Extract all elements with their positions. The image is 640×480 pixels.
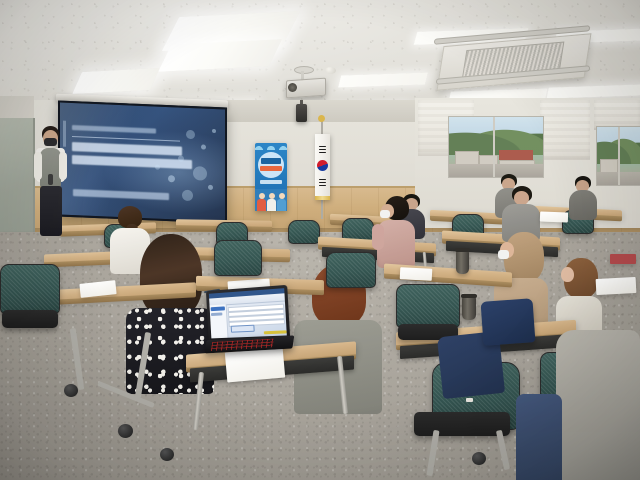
attendee-foreground-gray [556, 330, 640, 480]
presenter [30, 126, 70, 236]
attendee-jeans [516, 394, 562, 480]
tumbler [462, 296, 476, 320]
banner-mascot [277, 193, 286, 211]
backpack [481, 298, 536, 346]
laptop-lid [206, 285, 290, 344]
attendee-head [561, 267, 574, 282]
taegeuk-icon [317, 160, 328, 171]
chair-caster [118, 424, 133, 438]
banner-mascot-figures [255, 189, 287, 211]
presenter-mask [44, 138, 57, 146]
korean-flag [315, 134, 330, 200]
trigram-icon [319, 182, 326, 183]
chair-backrest[interactable] [288, 220, 320, 244]
presenter-arm [59, 152, 67, 180]
attendee-pink-blouse [372, 196, 422, 270]
attendee-torso [569, 190, 597, 220]
banner-scallop-decor [255, 143, 287, 150]
banner-subline [260, 166, 282, 171]
microphone-icon [48, 174, 53, 185]
trigram-icon [319, 149, 326, 150]
handout-paper [540, 212, 568, 223]
trigram-icon [319, 185, 326, 186]
attendee-head [514, 191, 529, 205]
banner-mascot [257, 193, 266, 211]
slide-bubble-decor [168, 175, 175, 182]
attendee-arm [372, 224, 384, 250]
led-panel-light [72, 68, 160, 94]
slide-content [60, 103, 225, 222]
chair-seat[interactable] [2, 310, 58, 328]
window-pane [448, 116, 544, 178]
slide-bubble-decor [208, 185, 213, 190]
slide-bubble-decor [186, 130, 195, 139]
standee-banner [255, 143, 287, 211]
attendee-far-back [566, 176, 600, 222]
tumbler [456, 250, 469, 274]
chair-backrest[interactable] [326, 252, 376, 288]
smoke-detector-icon [325, 67, 336, 74]
projector-lens-icon [288, 83, 297, 92]
handout-paper [225, 348, 285, 383]
flag-finial [318, 115, 325, 122]
attendee-torso [556, 330, 640, 480]
presenter-pants [40, 186, 62, 236]
slide-bubble-decor [193, 166, 207, 181]
laptop[interactable] [204, 286, 289, 352]
outside-building [600, 159, 618, 173]
lecture-room-photo: Lecture room with presenter at projectio… [0, 0, 640, 480]
attendee-mask [498, 250, 509, 259]
chair-backrest[interactable] [214, 240, 262, 276]
slide-bubble-decor [212, 129, 216, 133]
handout-paper [596, 277, 637, 295]
tumbler-lid [461, 294, 477, 298]
chair-backrest[interactable] [396, 284, 460, 328]
banner-circle-decor [258, 152, 284, 178]
attendee-hair [140, 234, 202, 316]
window-mullion [618, 127, 620, 185]
laptop-selected-cell [231, 325, 255, 333]
slide-bubble-decor [178, 155, 184, 161]
attendee-mask [380, 210, 390, 218]
trigram-icon [319, 146, 326, 147]
slide-bubble-decor [201, 144, 206, 149]
window-mullion [493, 117, 495, 177]
trigram-icon [319, 152, 326, 153]
chair-label-tag [466, 398, 473, 402]
wall-speaker-icon [296, 104, 307, 122]
slide-bubble-decor [182, 190, 193, 201]
presenter-arm [34, 152, 42, 180]
flag-fringe [315, 196, 330, 200]
roller-blind [540, 100, 590, 160]
chair-caster [64, 384, 78, 397]
banner-headline [261, 158, 281, 164]
handout-paper [400, 267, 433, 281]
trigram-icon [319, 179, 326, 180]
banner-footer-text [260, 180, 282, 184]
chair-caster [472, 452, 486, 465]
handout-paper [610, 254, 636, 264]
laptop-keyboard[interactable] [211, 339, 274, 352]
banner-mascot [267, 193, 276, 211]
chair-caster [160, 448, 174, 461]
window-pane [596, 126, 640, 186]
tumbler-lid [455, 248, 470, 252]
chair-backrest[interactable] [0, 264, 60, 314]
projector-ceiling-plate [294, 66, 314, 74]
